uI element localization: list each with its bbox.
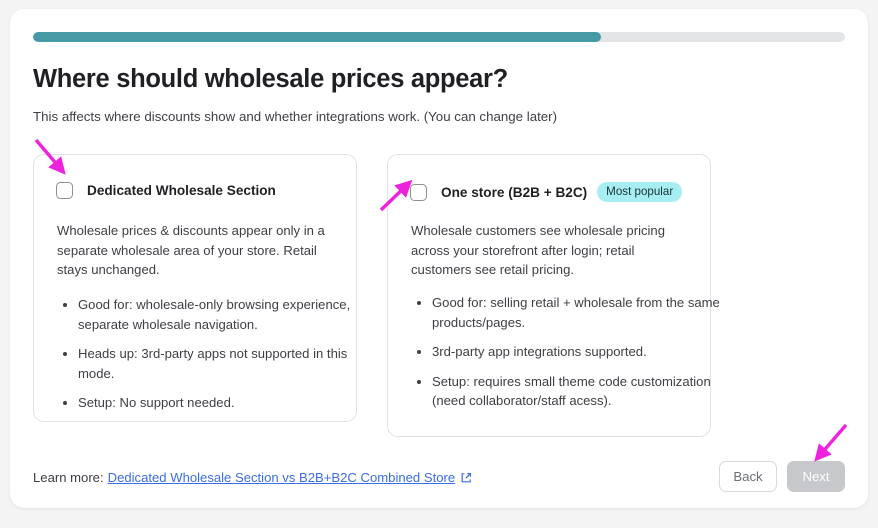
progress-bar-fill bbox=[33, 32, 601, 42]
back-button[interactable]: Back bbox=[719, 461, 777, 492]
learn-more-row: Learn more: Dedicated Wholesale Section … bbox=[33, 470, 472, 485]
list-item: Good for: wholesale-only browsing experi… bbox=[78, 295, 360, 334]
page-subtitle: This affects where discounts show and wh… bbox=[33, 109, 557, 124]
option-bullet-list: Good for: selling retail + wholesale fro… bbox=[410, 293, 722, 421]
list-item: Setup: requires small theme code customi… bbox=[432, 372, 722, 411]
learn-more-link[interactable]: Dedicated Wholesale Section vs B2B+B2C C… bbox=[108, 470, 456, 485]
list-item: 3rd-party app integrations supported. bbox=[432, 342, 722, 362]
option-description: Wholesale prices & discounts appear only… bbox=[57, 221, 329, 280]
option-card-dedicated-wholesale-section[interactable]: Dedicated Wholesale Section Wholesale pr… bbox=[33, 154, 357, 422]
list-item: Heads up: 3rd-party apps not supported i… bbox=[78, 344, 360, 383]
checkbox-one-store-b2b-b2c[interactable] bbox=[410, 184, 427, 201]
option-bullet-list: Good for: wholesale-only browsing experi… bbox=[56, 295, 360, 423]
option-header: One store (B2B + B2C) Most popular bbox=[410, 182, 682, 202]
option-label: Dedicated Wholesale Section bbox=[87, 183, 276, 198]
list-item: Good for: selling retail + wholesale fro… bbox=[432, 293, 722, 332]
checkbox-dedicated-wholesale-section[interactable] bbox=[56, 182, 73, 199]
learn-more-label: Learn more: bbox=[33, 470, 104, 485]
option-label: One store (B2B + B2C) bbox=[441, 185, 587, 200]
option-description: Wholesale customers see wholesale pricin… bbox=[411, 221, 683, 280]
list-item: Setup: No support needed. bbox=[78, 393, 360, 413]
wizard-page: Where should wholesale prices appear? Th… bbox=[0, 0, 878, 528]
option-card-one-store-b2b-b2c[interactable]: One store (B2B + B2C) Most popular Whole… bbox=[387, 154, 711, 437]
wizard-button-row: Back Next bbox=[719, 461, 845, 492]
next-button[interactable]: Next bbox=[787, 461, 845, 492]
external-link-icon[interactable] bbox=[460, 472, 472, 484]
wizard-card: Where should wholesale prices appear? Th… bbox=[10, 9, 868, 508]
page-title: Where should wholesale prices appear? bbox=[33, 65, 508, 94]
option-header: Dedicated Wholesale Section bbox=[56, 182, 276, 199]
status-badge-most-popular: Most popular bbox=[597, 182, 682, 202]
progress-bar-track bbox=[33, 32, 845, 42]
